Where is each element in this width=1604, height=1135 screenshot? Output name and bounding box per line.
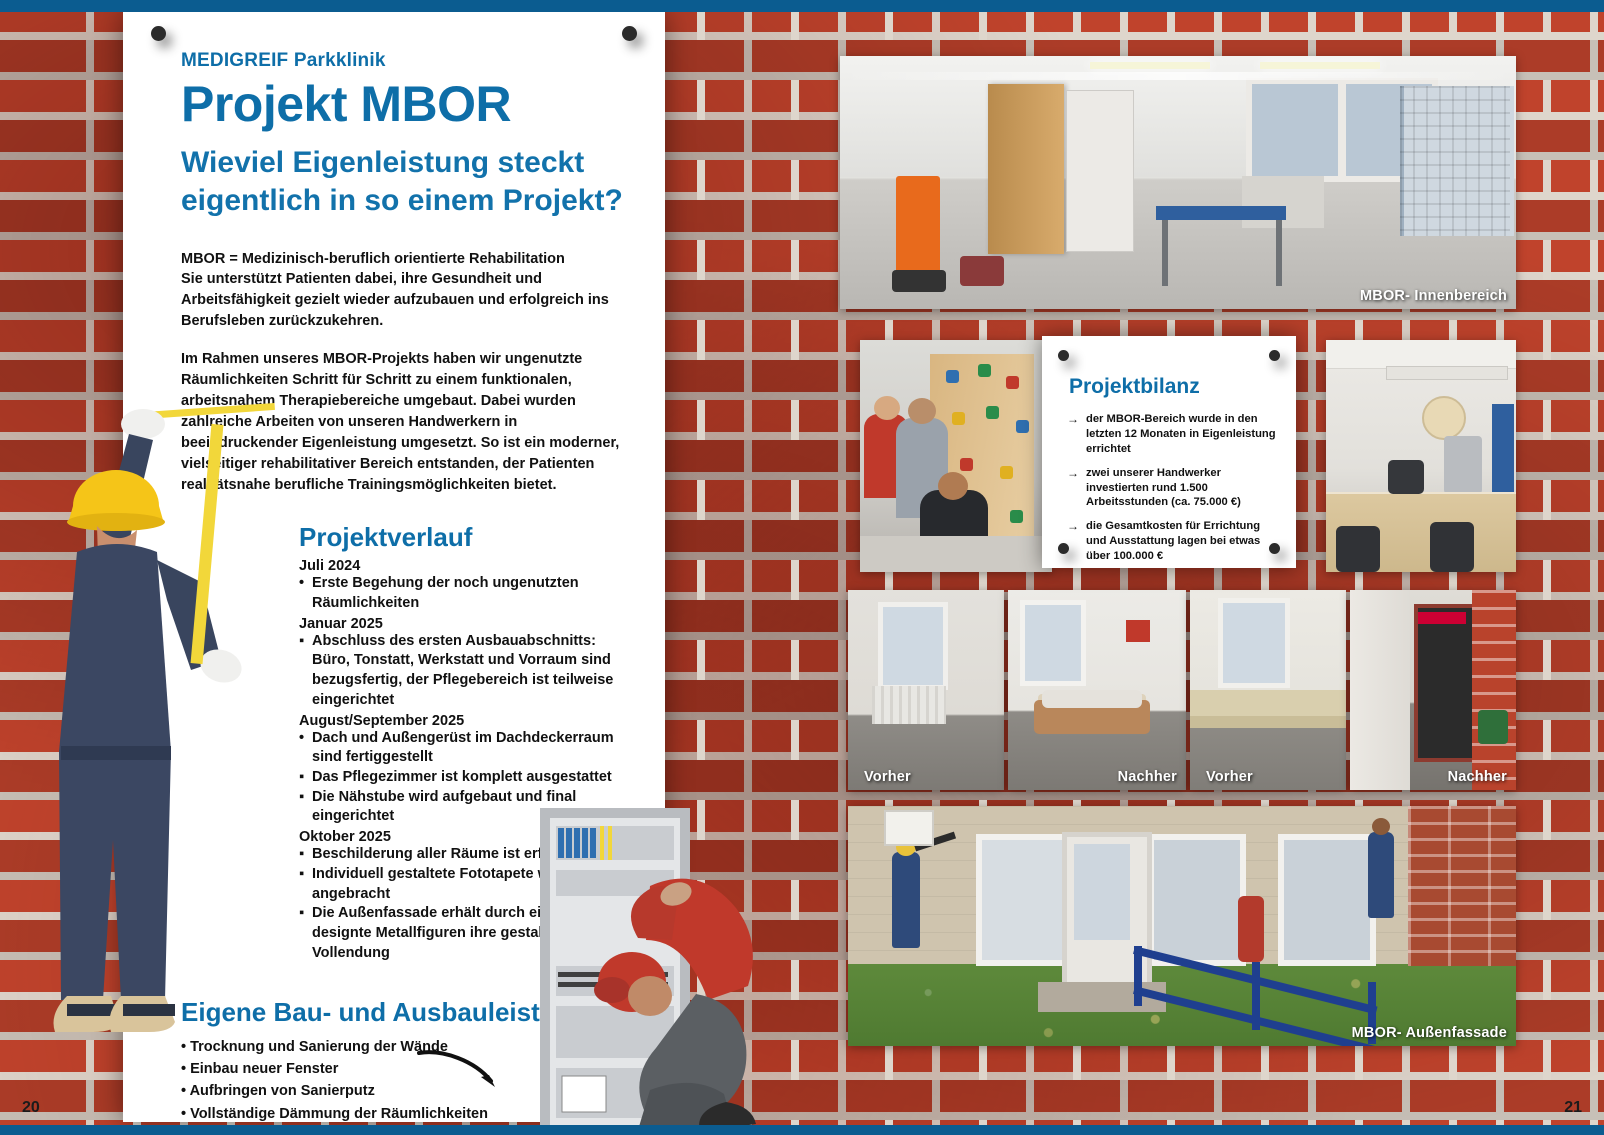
arrow-right-icon: → [1067, 412, 1079, 428]
lead-definition-bold: MBOR = Medizinisch-beruflich orientierte… [181, 249, 631, 270]
photo-mbor-innenbereich: MBOR- Innenbereich [840, 56, 1516, 309]
arrow-right-icon: → [1067, 519, 1079, 535]
timeline-date: August/September 2025 [299, 713, 631, 729]
bilanz-heading: Projektbilanz [1069, 375, 1200, 399]
worker-with-tape-measure-photo [25, 400, 295, 1100]
photo-zimmer-nachher: Nachher [1008, 590, 1186, 790]
lead-definition-text: Sie unterstützt Patienten dabei, ihre Ge… [181, 269, 631, 331]
page-title: Projekt MBOR [181, 79, 631, 130]
photo-caption: MBOR- Außenfassade [1352, 1025, 1507, 1041]
timeline-date: Juli 2024 [299, 558, 631, 574]
bilanz-list: →der MBOR-Bereich wurde in den letzten 1… [1067, 412, 1279, 573]
photo-werkraum [1326, 340, 1516, 572]
bilanz-item: →der MBOR-Bereich wurde in den letzten 1… [1067, 412, 1279, 457]
projektbilanz-card: Projektbilanz →der MBOR-Bereich wurde in… [1042, 336, 1296, 568]
arrow-right-icon: → [1067, 466, 1079, 482]
bottom-blue-bar [0, 1125, 1604, 1135]
electrician-photo [500, 790, 770, 1135]
brand-kicker: MEDIGREIF Parkklinik [181, 50, 631, 72]
photo-caption: Nachher [1448, 769, 1507, 785]
bilanz-item: →zwei unserer Handwerker investierten ru… [1067, 466, 1279, 511]
photo-aussenfassade: MBOR- Außenfassade [848, 806, 1516, 1046]
photo-caption: Vorher [1206, 769, 1253, 785]
timeline-heading: Projektverlauf [299, 522, 631, 553]
pin-top-right-icon [622, 26, 637, 41]
page-number-left: 20 [22, 1099, 40, 1117]
timeline-item: •Dach und Außengerüst im Dachdeckerraum … [299, 729, 631, 768]
magazine-spread: MEDIGREIF Parkklinik Projekt MBOR Wievie… [0, 0, 1604, 1135]
photo-flur-nachher: Nachher [1350, 590, 1516, 790]
curved-arrow-icon [413, 1047, 503, 1092]
timeline-item: ▪Das Pflegezimmer ist komplett ausgestat… [299, 768, 631, 788]
photo-caption: Vorher [864, 769, 911, 785]
pin-top-left-icon [1058, 350, 1069, 361]
photo-flur-vorher: Vorher [1190, 590, 1346, 790]
pin-top-right-icon [1269, 350, 1280, 361]
top-blue-bar [0, 0, 1604, 12]
timeline-item: ▪Abschluss des ersten Ausbauabschnitts: … [299, 632, 631, 711]
page-subtitle: Wieviel Eigenleistung steckt eigentlich … [181, 144, 631, 221]
photo-caption: MBOR- Innenbereich [1360, 288, 1507, 304]
timeline-item: •Erste Begehung der noch ungenutzten Räu… [299, 574, 631, 613]
photo-caption: Nachher [1118, 769, 1177, 785]
timeline-date: Januar 2025 [299, 616, 631, 632]
photo-kletterwand [860, 340, 1052, 572]
pin-top-left-icon [151, 26, 166, 41]
page-number-right: 21 [1564, 1099, 1582, 1117]
photo-zimmer-vorher: Vorher [848, 590, 1004, 790]
bilanz-item: →die Gesamtkosten für Errichtung und Aus… [1067, 519, 1279, 564]
